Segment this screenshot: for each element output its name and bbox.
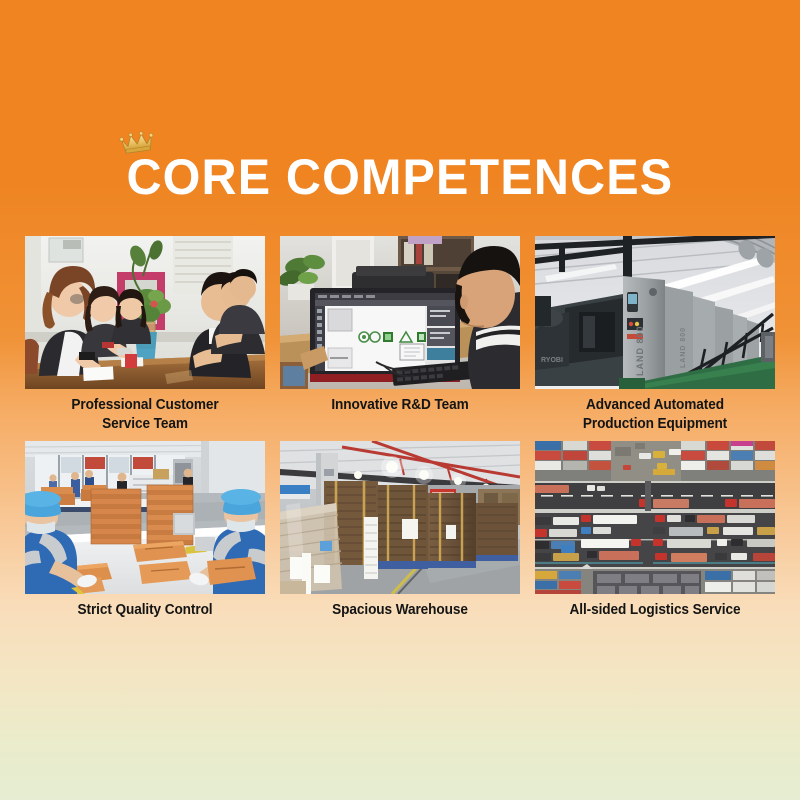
svg-text:RYOBI: RYOBI bbox=[541, 357, 563, 364]
caption-line-2: Production Equipment bbox=[542, 415, 768, 434]
photo-professional-customer-service-team bbox=[25, 236, 265, 389]
page-title: CORE COMPETENCES bbox=[127, 152, 674, 202]
svg-text:LAND 800: LAND 800 bbox=[680, 327, 687, 368]
caption-line-1: Professional Customer bbox=[32, 396, 258, 415]
photo-innovative-rd-team bbox=[280, 236, 520, 389]
caption-strict-quality-control: Strict Quality Control bbox=[32, 601, 258, 620]
core-competences-banner: CORE COMPETENCES bbox=[0, 0, 800, 800]
title-block: CORE COMPETENCES bbox=[0, 152, 800, 202]
caption-line-1: Spacious Warehouse bbox=[287, 601, 513, 620]
card-spacious-warehouse[interactable]: Spacious Warehouse bbox=[280, 441, 520, 620]
caption-line-1: Innovative R&D Team bbox=[287, 396, 513, 415]
caption-all-sided-logistics-service: All-sided Logistics Service bbox=[542, 601, 768, 620]
crown-icon bbox=[119, 128, 156, 156]
caption-spacious-warehouse: Spacious Warehouse bbox=[287, 601, 513, 620]
caption-line-1: All-sided Logistics Service bbox=[542, 601, 768, 620]
photo-all-sided-logistics-service bbox=[535, 441, 775, 594]
caption-line-1: Advanced Automated bbox=[542, 396, 768, 415]
competences-grid: Professional Customer Service Team bbox=[25, 236, 775, 620]
photo-spacious-warehouse bbox=[280, 441, 520, 594]
caption-innovative-rd-team: Innovative R&D Team bbox=[287, 396, 513, 415]
caption-line-1: Strict Quality Control bbox=[32, 601, 258, 620]
card-professional-customer-service-team[interactable]: Professional Customer Service Team bbox=[25, 236, 265, 433]
svg-text:LAND 800: LAND 800 bbox=[635, 325, 645, 376]
card-innovative-rd-team[interactable]: Innovative R&D Team bbox=[280, 236, 520, 433]
card-all-sided-logistics-service[interactable]: All-sided Logistics Service bbox=[535, 441, 775, 620]
card-advanced-automated-production-equipment[interactable]: LAND 800 LAND 800 bbox=[535, 236, 775, 433]
caption-advanced-automated-production-equipment: Advanced Automated Production Equipment bbox=[542, 396, 768, 433]
card-strict-quality-control[interactable]: Strict Quality Control bbox=[25, 441, 265, 620]
title-inner: CORE COMPETENCES bbox=[118, 152, 682, 202]
photo-advanced-automated-production-equipment: LAND 800 LAND 800 bbox=[535, 236, 775, 389]
caption-line-2: Service Team bbox=[32, 415, 258, 434]
photo-strict-quality-control bbox=[25, 441, 265, 594]
caption-professional-customer-service-team: Professional Customer Service Team bbox=[32, 396, 258, 433]
